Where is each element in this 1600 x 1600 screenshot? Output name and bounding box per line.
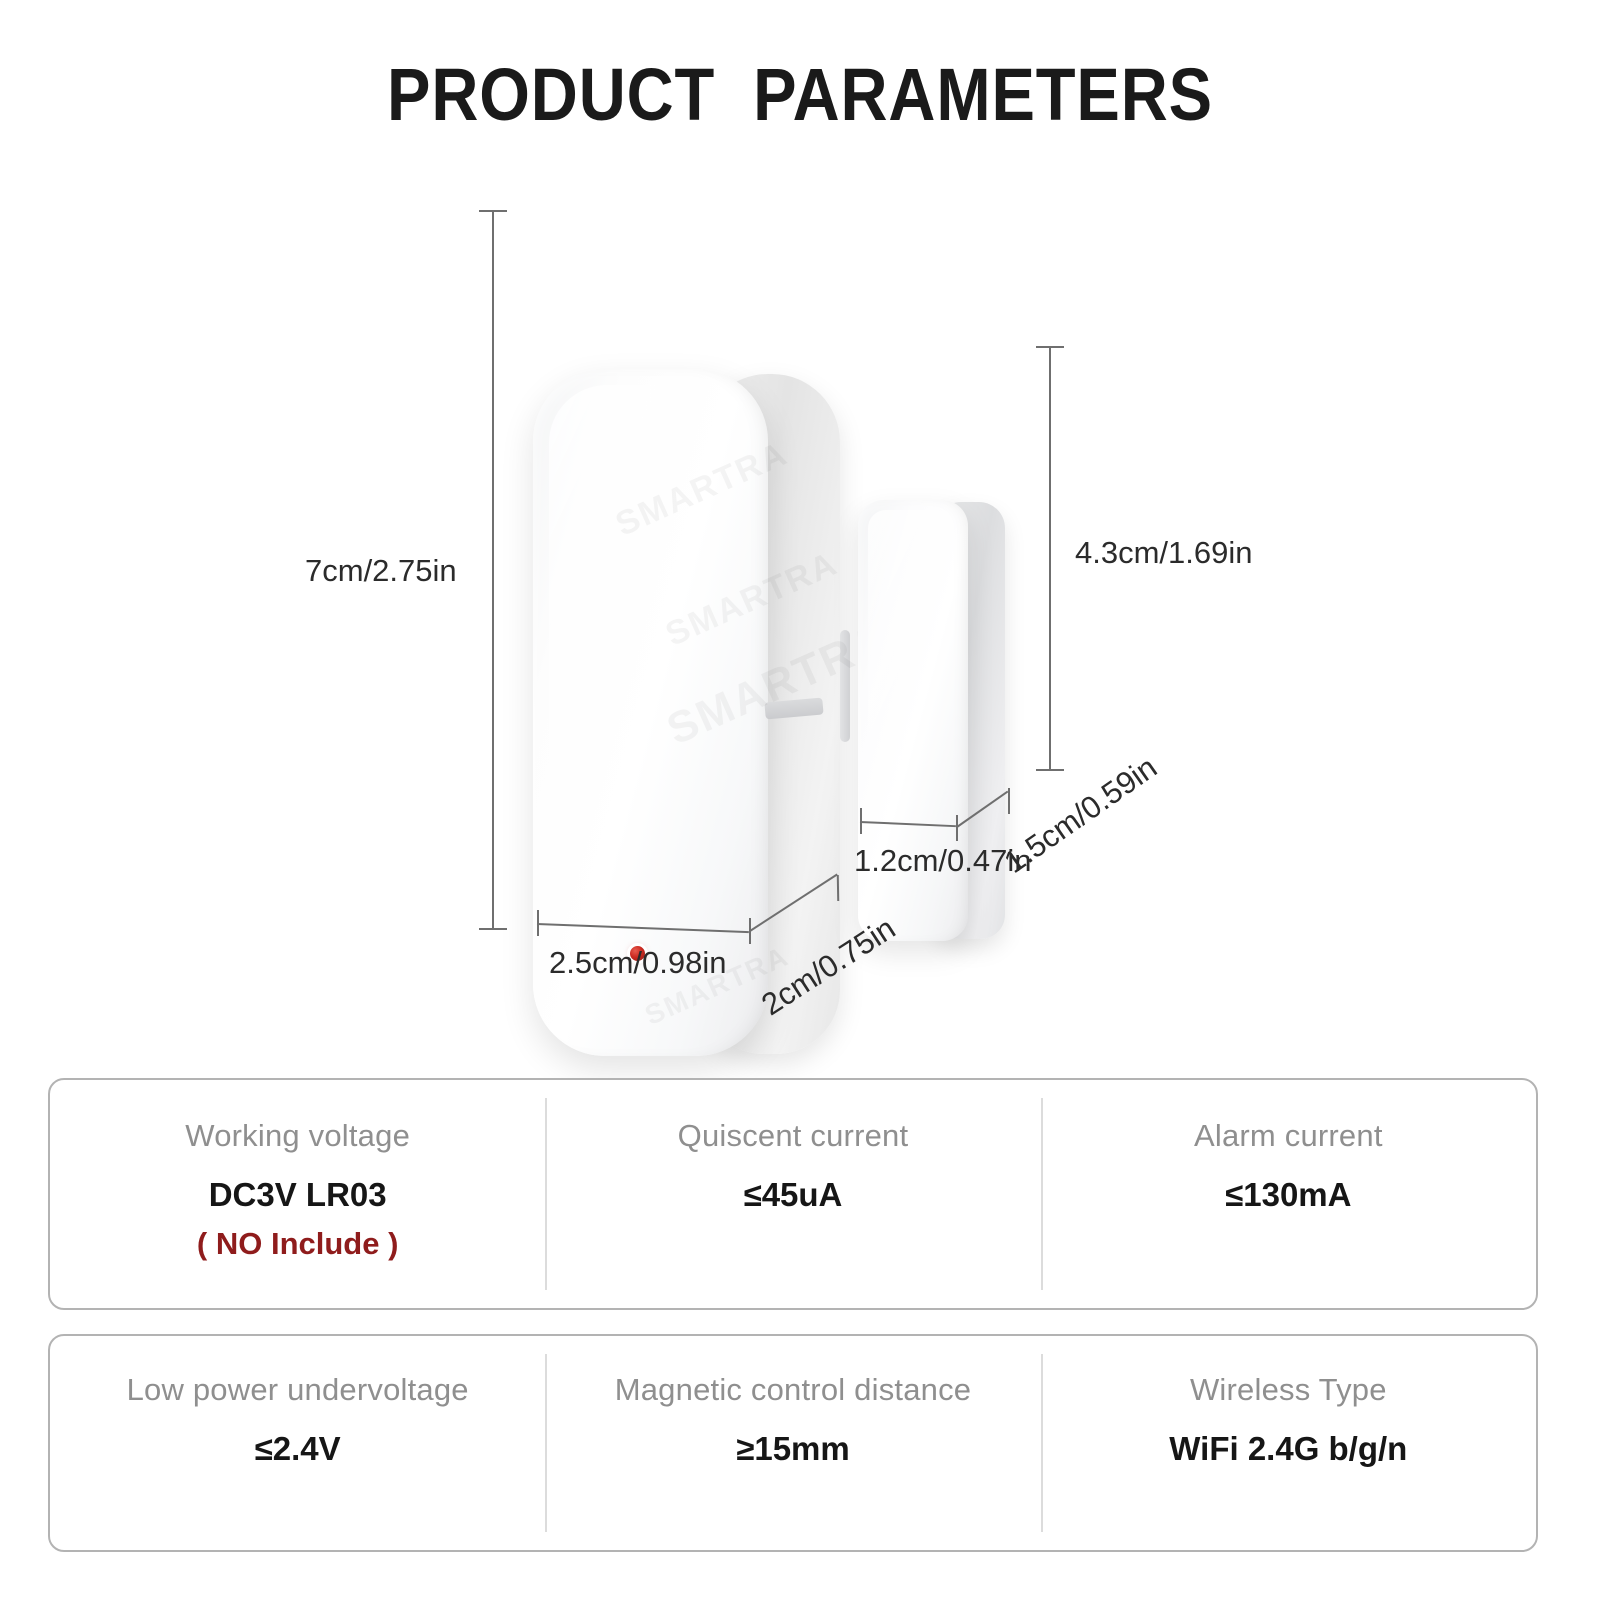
sensor-seam-detail: [840, 630, 850, 742]
product-illustration: SMARTRA SMARTRA SMARTRA SMARTRA 7cm/2.75…: [0, 160, 1600, 1040]
spec-value: WiFi 2.4G b/g/n: [1169, 1430, 1407, 1468]
spec-label: Magnetic control distance: [615, 1372, 972, 1408]
spec-card-1: Working voltage DC3V LR03 ( NO Include )…: [48, 1078, 1538, 1310]
dimension-line-magnet-height: [1049, 346, 1051, 771]
dimension-label-sensor-height: 7cm/2.75in: [305, 553, 457, 589]
dimension-label-sensor-width: 2.5cm/0.98in: [549, 945, 727, 981]
page-title: PRODUCT PARAMETERS: [96, 52, 1504, 137]
spec-label: Low power undervoltage: [127, 1372, 469, 1408]
spec-cell-magnetic-control-distance: Magnetic control distance ≥15mm: [545, 1336, 1040, 1550]
spec-cell-working-voltage: Working voltage DC3V LR03 ( NO Include ): [50, 1080, 545, 1308]
spec-value: ≤45uA: [744, 1176, 843, 1214]
dimension-label-magnet-depth: 1.5cm/0.59in: [998, 749, 1164, 880]
spec-card-2: Low power undervoltage ≤2.4V Magnetic co…: [48, 1334, 1538, 1552]
spec-label: Working voltage: [185, 1118, 410, 1154]
spec-cell-low-power-undervoltage: Low power undervoltage ≤2.4V: [50, 1336, 545, 1550]
spec-note: ( NO Include ): [197, 1226, 399, 1262]
spec-value: ≥15mm: [736, 1430, 850, 1468]
spec-value: ≤130mA: [1225, 1176, 1351, 1214]
dimension-line-sensor-height: [492, 210, 494, 930]
spec-label: Alarm current: [1194, 1118, 1383, 1154]
dimension-cap: [1008, 788, 1010, 814]
spec-cell-quiscent-current: Quiscent current ≤45uA: [545, 1080, 1040, 1308]
dimension-cap: [837, 875, 839, 901]
spec-label: Wireless Type: [1190, 1372, 1387, 1408]
spec-cell-alarm-current: Alarm current ≤130mA: [1041, 1080, 1536, 1308]
product-parameters-page: PRODUCT PARAMETERS SMARTRA SMARTRA SMART…: [0, 0, 1600, 1600]
spec-label: Quiscent current: [678, 1118, 909, 1154]
spec-value: DC3V LR03: [209, 1176, 387, 1214]
dimension-label-magnet-height: 4.3cm/1.69in: [1075, 535, 1253, 571]
spec-cell-wireless-type: Wireless Type WiFi 2.4G b/g/n: [1041, 1336, 1536, 1550]
spec-value: ≤2.4V: [255, 1430, 341, 1468]
